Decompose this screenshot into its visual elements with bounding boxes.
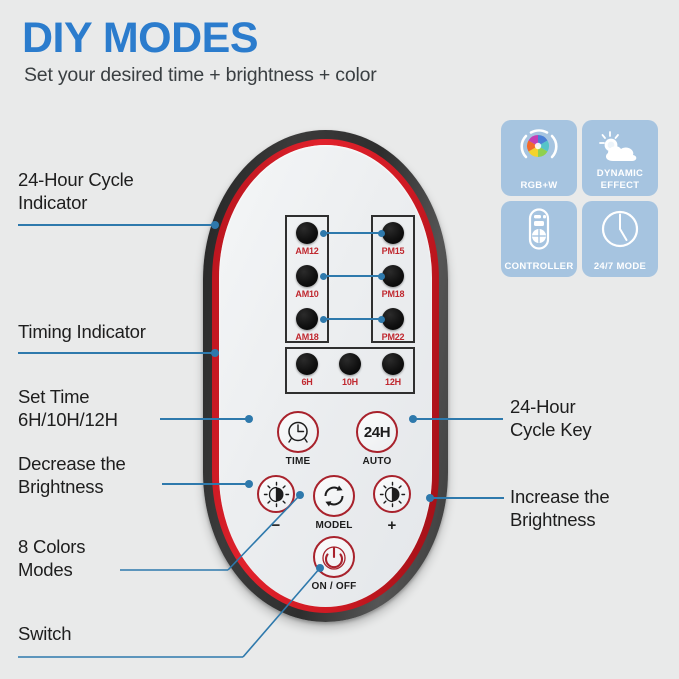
leader-dot bbox=[426, 494, 434, 502]
leader-line-switch-svg bbox=[0, 0, 679, 679]
infographic-canvas: DIY MODES Set your desired time + bright… bbox=[0, 0, 679, 679]
annotation-24h-cycle-key: 24-Hour Cycle Key bbox=[510, 395, 591, 441]
leader-line bbox=[430, 497, 504, 499]
leader-line bbox=[413, 418, 503, 420]
annotation-increase-brightness: Increase the Brightness bbox=[510, 485, 609, 531]
leader-dot bbox=[409, 415, 417, 423]
leader-dot bbox=[316, 564, 324, 572]
